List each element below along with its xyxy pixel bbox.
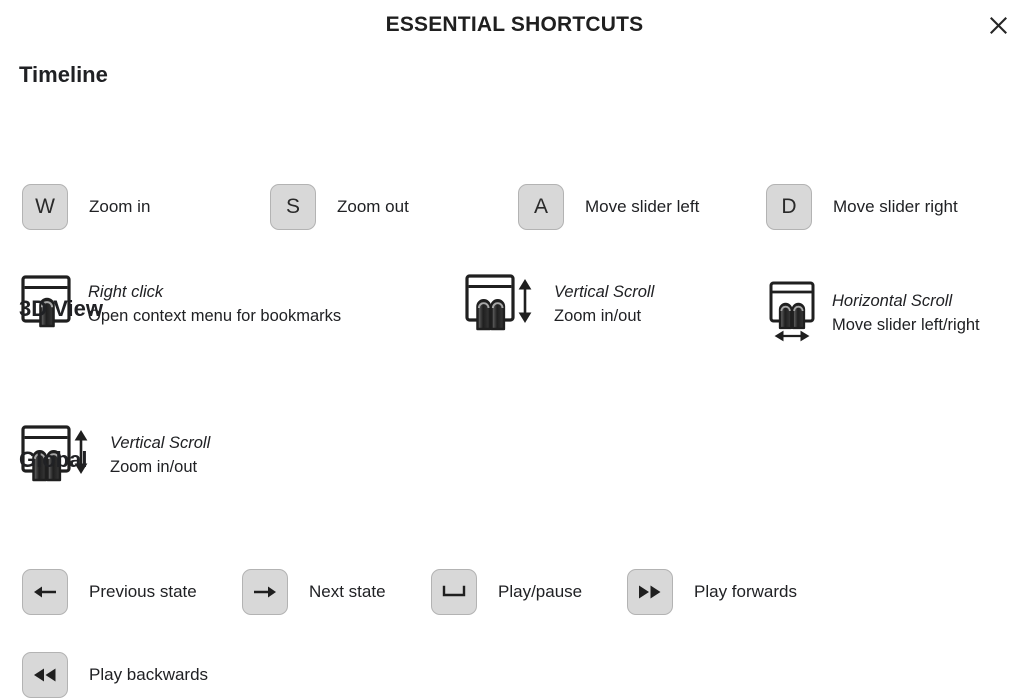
- shortcut-label-next-state: Next state: [309, 582, 386, 602]
- shortcut-next-state[interactable]: Next state: [242, 569, 386, 615]
- gesture-action-horizontal-scroll: Horizontal Scroll: [832, 290, 980, 314]
- shortcut-label-move-slider-right: Move slider right: [833, 197, 958, 217]
- page-title: ESSENTIAL SHORTCUTS: [0, 13, 1029, 37]
- keycap-fast-forward[interactable]: [627, 569, 673, 615]
- gesture-action-right-click: Right click: [88, 281, 341, 305]
- section-global: Global: [0, 447, 87, 473]
- shortcut-play-pause[interactable]: Play/pause: [431, 569, 582, 615]
- rewind-icon: [31, 666, 59, 684]
- section-title-timeline: Timeline: [0, 62, 108, 88]
- arrow-left-icon: [32, 581, 58, 603]
- gesture-vertical-scroll-timeline[interactable]: Vertical Scroll Zoom in/out: [464, 272, 654, 337]
- fast-forward-icon: [636, 583, 664, 601]
- shortcut-play-backwards[interactable]: Play backwards: [22, 652, 208, 698]
- keycap-spacebar[interactable]: [431, 569, 477, 615]
- keycap-s[interactable]: S: [270, 184, 316, 230]
- gesture-horizontal-scroll[interactable]: Horizontal Scroll Move slider left/right: [768, 280, 980, 347]
- shortcut-label-play-backwards: Play backwards: [89, 665, 208, 685]
- shortcut-label-play-pause: Play/pause: [498, 582, 582, 602]
- shortcut-previous-state[interactable]: Previous state: [22, 569, 197, 615]
- shortcut-zoom-out[interactable]: S Zoom out: [270, 184, 409, 230]
- gesture-text-right-click: Right click Open context menu for bookma…: [88, 281, 341, 329]
- shortcut-label-previous-state: Previous state: [89, 582, 197, 602]
- keycap-arrow-right[interactable]: [242, 569, 288, 615]
- gesture-text-vertical-scroll-timeline: Vertical Scroll Zoom in/out: [554, 281, 654, 329]
- section-timeline: Timeline: [0, 62, 108, 88]
- gesture-desc-right-click: Open context menu for bookmarks: [88, 305, 341, 329]
- section-title-global: Global: [0, 447, 87, 473]
- shortcut-label-play-forwards: Play forwards: [694, 582, 797, 602]
- shortcut-move-slider-left[interactable]: A Move slider left: [518, 184, 699, 230]
- close-icon: [988, 15, 1009, 41]
- section-3d-view: 3D View: [0, 296, 103, 322]
- gesture-desc-vertical-scroll-3d: Zoom in/out: [110, 456, 210, 480]
- gesture-action-vertical-scroll-timeline: Vertical Scroll: [554, 281, 654, 305]
- close-button[interactable]: [981, 11, 1015, 45]
- trackpad-vertical-scroll-icon: [464, 272, 540, 337]
- keycap-d[interactable]: D: [766, 184, 812, 230]
- section-title-3d-view: 3D View: [0, 296, 103, 322]
- shortcut-play-forwards[interactable]: Play forwards: [627, 569, 797, 615]
- gesture-desc-horizontal-scroll: Move slider left/right: [832, 314, 980, 338]
- dialog-header: ESSENTIAL SHORTCUTS: [0, 0, 1029, 56]
- gesture-action-vertical-scroll-3d: Vertical Scroll: [110, 432, 210, 456]
- keycap-w[interactable]: W: [22, 184, 68, 230]
- arrow-right-icon: [252, 581, 278, 603]
- spacebar-icon: [441, 584, 467, 600]
- gesture-text-vertical-scroll-3d: Vertical Scroll Zoom in/out: [110, 432, 210, 480]
- shortcut-move-slider-right[interactable]: D Move slider right: [766, 184, 958, 230]
- gesture-desc-vertical-scroll-timeline: Zoom in/out: [554, 305, 654, 329]
- shortcut-label-zoom-in: Zoom in: [89, 197, 150, 217]
- shortcut-label-zoom-out: Zoom out: [337, 197, 409, 217]
- keycap-rewind[interactable]: [22, 652, 68, 698]
- shortcut-zoom-in[interactable]: W Zoom in: [22, 184, 150, 230]
- keycap-arrow-left[interactable]: [22, 569, 68, 615]
- trackpad-horizontal-scroll-icon: [768, 280, 818, 347]
- gesture-text-horizontal-scroll: Horizontal Scroll Move slider left/right: [832, 290, 980, 338]
- keycap-a[interactable]: A: [518, 184, 564, 230]
- shortcut-label-move-slider-left: Move slider left: [585, 197, 699, 217]
